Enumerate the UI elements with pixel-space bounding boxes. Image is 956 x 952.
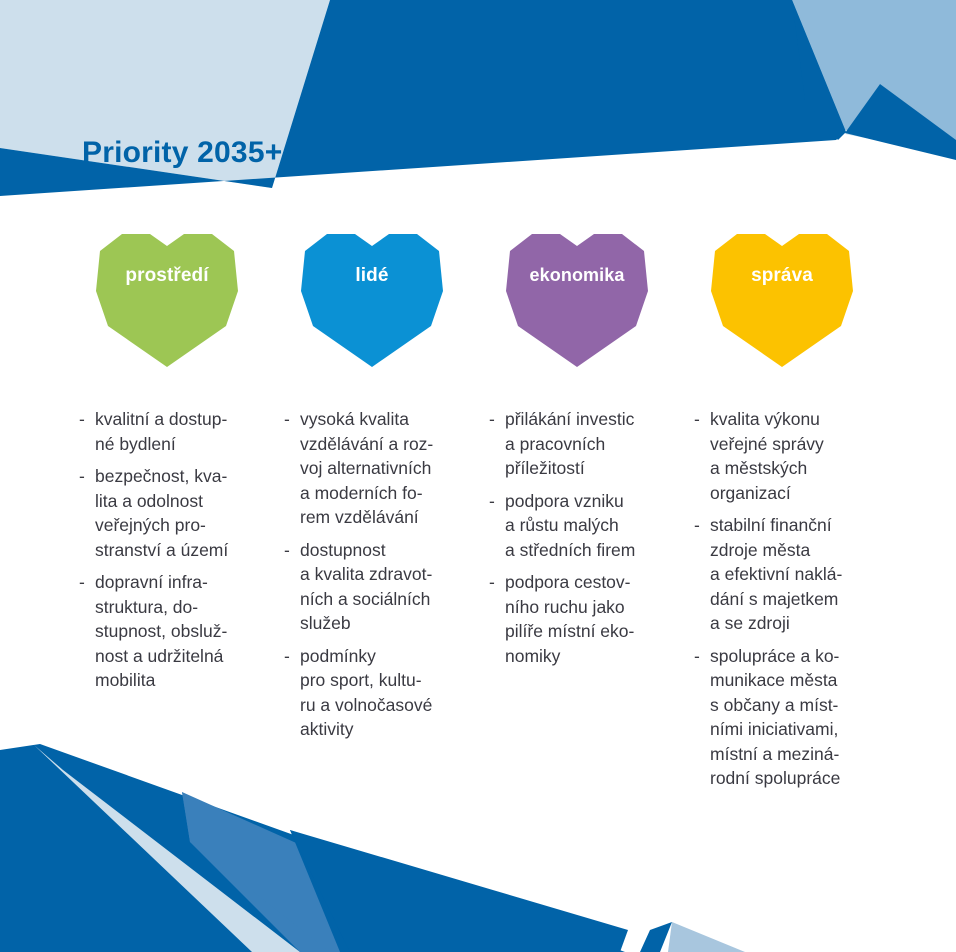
list-item: bezpečnost, kva- lita a odolnost veřejný… [78, 464, 274, 562]
list-item: kvalitní a dostup- né bydlení [78, 407, 274, 456]
list-item: stabilní finanční zdroje města a efektiv… [693, 513, 889, 636]
heart-prostredi[interactable]: prostředí [92, 225, 242, 370]
list-item: podpora cestov- ního ruchu jako pilíře m… [488, 570, 684, 668]
page-title: Priority 2035+ [82, 136, 282, 170]
heart-lide[interactable]: lidé [297, 225, 447, 370]
heart-polygon [301, 234, 443, 367]
pillars-row: prostředí kvalitní a dostup- né bydlení … [78, 225, 898, 370]
page-content: Priority 2035+ prostředí kvalitní a dost… [0, 0, 956, 952]
poster-page: Priority 2035+ prostředí kvalitní a dost… [0, 0, 956, 952]
list-item: vysoká kvalita vzdělávání a roz- voj alt… [283, 407, 479, 530]
list-item: kvalita výkonu veřejné správy a městskýc… [693, 407, 889, 505]
heart-shape-icon [707, 225, 857, 370]
heart-sprava[interactable]: správa [707, 225, 857, 370]
heart-polygon [96, 234, 238, 367]
bullet-list-lide: vysoká kvalita vzdělávání a roz- voj alt… [283, 407, 479, 750]
bullet-list-sprava: kvalita výkonu veřejné správy a městskýc… [693, 407, 889, 799]
list-item: dostupnost a kvalita zdravot- ních a soc… [283, 538, 479, 636]
pillar-prostredi: prostředí kvalitní a dostup- né bydlení … [78, 225, 283, 370]
heart-polygon [711, 234, 853, 367]
list-item: dopravní infra- struktura, do- stupnost,… [78, 570, 274, 693]
bullet-list-ekonomika: přilákání investic a pracovních příležit… [488, 407, 684, 676]
list-item: podmínky pro sport, kultu- ru a volnočas… [283, 644, 479, 742]
pillar-lide: lidé vysoká kvalita vzdělávání a roz- vo… [283, 225, 488, 370]
pillar-sprava: správa kvalita výkonu veřejné správy a m… [693, 225, 898, 370]
list-item: spolupráce a ko- munikace města s občany… [693, 644, 889, 791]
list-item: podpora vzniku a růstu malých a středníc… [488, 489, 684, 563]
bullet-list-prostredi: kvalitní a dostup- né bydlení bezpečnost… [78, 407, 274, 701]
heart-polygon [506, 234, 648, 367]
list-item: přilákání investic a pracovních příležit… [488, 407, 684, 481]
heart-shape-icon [297, 225, 447, 370]
heart-ekonomika[interactable]: ekonomika [502, 225, 652, 370]
heart-shape-icon [502, 225, 652, 370]
heart-shape-icon [92, 225, 242, 370]
pillar-ekonomika: ekonomika přilákání investic a pracovníc… [488, 225, 693, 370]
